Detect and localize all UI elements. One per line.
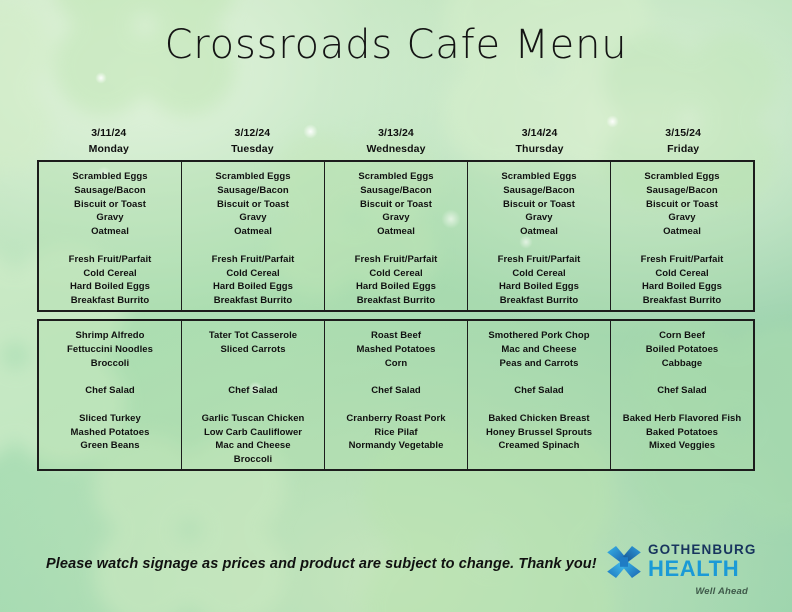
menu-item: Oatmeal bbox=[182, 225, 324, 239]
breakfast-column-monday: Scrambled Eggs Sausage/Bacon Biscuit or … bbox=[39, 162, 182, 310]
menu-item: Scrambled Eggs bbox=[182, 170, 324, 184]
menu-item: Hard Boiled Eggs bbox=[182, 280, 324, 294]
menu-item: Tater Tot Casserole bbox=[182, 329, 324, 343]
breakfast-column-thursday: Scrambled Eggs Sausage/Bacon Biscuit or … bbox=[468, 162, 611, 310]
menu-item: Gravy bbox=[182, 211, 324, 225]
day-header-wednesday: 3/13/24 Wednesday bbox=[324, 126, 468, 156]
menu-item: Sausage/Bacon bbox=[325, 184, 467, 198]
menu-item: Boiled Potatoes bbox=[611, 343, 753, 357]
menu-item: Hard Boiled Eggs bbox=[468, 280, 610, 294]
menu-item: Broccoli bbox=[182, 453, 324, 467]
menu-item: Breakfast Burrito bbox=[182, 294, 324, 308]
logo-line-gothenburg: GOTHENBURG bbox=[648, 542, 757, 557]
day-name: Tuesday bbox=[181, 142, 325, 156]
menu-item: Fresh Fruit/Parfait bbox=[468, 253, 610, 267]
menu-item: Hard Boiled Eggs bbox=[325, 280, 467, 294]
gothenburg-health-cross-icon bbox=[604, 542, 644, 582]
menu-item: Corn bbox=[325, 357, 467, 371]
menu-item: Breakfast Burrito bbox=[325, 294, 467, 308]
menu-item: Cabbage bbox=[611, 357, 753, 371]
menu-item: Corn Beef bbox=[611, 329, 753, 343]
menu-item: Mixed Veggies bbox=[611, 439, 753, 453]
day-date: 3/14/24 bbox=[468, 126, 612, 140]
menu-item: Biscuit or Toast bbox=[39, 198, 181, 212]
menu-item: Fresh Fruit/Parfait bbox=[182, 253, 324, 267]
day-date: 3/13/24 bbox=[324, 126, 468, 140]
day-header-thursday: 3/14/24 Thursday bbox=[468, 126, 612, 156]
breakfast-menu-table: Scrambled Eggs Sausage/Bacon Biscuit or … bbox=[37, 160, 755, 312]
page-title: Crossroads Cafe Menu bbox=[0, 22, 792, 68]
menu-item: Green Beans bbox=[39, 439, 181, 453]
menu-item: Fresh Fruit/Parfait bbox=[39, 253, 181, 267]
menu-item: Chef Salad bbox=[39, 384, 181, 398]
menu-item: Fresh Fruit/Parfait bbox=[325, 253, 467, 267]
day-date: 3/15/24 bbox=[611, 126, 755, 140]
day-name: Monday bbox=[37, 142, 181, 156]
menu-item: Chef Salad bbox=[182, 384, 324, 398]
menu-item: Biscuit or Toast bbox=[325, 198, 467, 212]
menu-item: Mashed Potatoes bbox=[325, 343, 467, 357]
menu-item: Broccoli bbox=[39, 357, 181, 371]
lunch-column-friday: Corn Beef Boiled Potatoes Cabbage Chef S… bbox=[611, 321, 753, 469]
day-name: Friday bbox=[611, 142, 755, 156]
lunch-menu-table: Shrimp Alfredo Fettuccini Noodles Brocco… bbox=[37, 319, 755, 471]
lunch-column-wednesday: Roast Beef Mashed Potatoes Corn Chef Sal… bbox=[325, 321, 468, 469]
day-header-tuesday: 3/12/24 Tuesday bbox=[181, 126, 325, 156]
menu-item: Sliced Turkey bbox=[39, 412, 181, 426]
day-header-row: 3/11/24 Monday 3/12/24 Tuesday 3/13/24 W… bbox=[37, 126, 755, 156]
disclaimer-text: Please watch signage as prices and produ… bbox=[46, 556, 597, 572]
menu-item: Baked Potatoes bbox=[611, 426, 753, 440]
menu-item: Normandy Vegetable bbox=[325, 439, 467, 453]
menu-item: Sliced Carrots bbox=[182, 343, 324, 357]
menu-item: Oatmeal bbox=[325, 225, 467, 239]
menu-item: Oatmeal bbox=[468, 225, 610, 239]
menu-item: Scrambled Eggs bbox=[468, 170, 610, 184]
menu-item: Mac and Cheese bbox=[182, 439, 324, 453]
menu-item: Breakfast Burrito bbox=[468, 294, 610, 308]
menu-item: Sausage/Bacon bbox=[468, 184, 610, 198]
day-header-friday: 3/15/24 Friday bbox=[611, 126, 755, 156]
logo-wordmark: GOTHENBURG HEALTH bbox=[648, 542, 757, 580]
menu-item: Biscuit or Toast bbox=[182, 198, 324, 212]
menu-item: Cold Cereal bbox=[611, 267, 753, 281]
gothenburg-health-logo: GOTHENBURG HEALTH Well Ahead bbox=[604, 538, 754, 600]
menu-item: Peas and Carrots bbox=[468, 357, 610, 371]
menu-item: Baked Chicken Breast bbox=[468, 412, 610, 426]
menu-item: Cold Cereal bbox=[325, 267, 467, 281]
day-date: 3/11/24 bbox=[37, 126, 181, 140]
menu-item: Biscuit or Toast bbox=[611, 198, 753, 212]
menu-item: Fresh Fruit/Parfait bbox=[611, 253, 753, 267]
menu-item: Sausage/Bacon bbox=[182, 184, 324, 198]
menu-item: Cranberry Roast Pork bbox=[325, 412, 467, 426]
menu-item: Chef Salad bbox=[611, 384, 753, 398]
menu-item: Smothered Pork Chop bbox=[468, 329, 610, 343]
menu-item: Honey Brussel Sprouts bbox=[468, 426, 610, 440]
menu-item: Roast Beef bbox=[325, 329, 467, 343]
menu-item: Hard Boiled Eggs bbox=[39, 280, 181, 294]
menu-item: Cold Cereal bbox=[468, 267, 610, 281]
menu-item: Gravy bbox=[468, 211, 610, 225]
menu-item: Rice Pilaf bbox=[325, 426, 467, 440]
menu-item: Cold Cereal bbox=[39, 267, 181, 281]
menu-item: Gravy bbox=[39, 211, 181, 225]
logo-line-health: HEALTH bbox=[648, 557, 757, 580]
menu-item: Breakfast Burrito bbox=[611, 294, 753, 308]
menu-item: Shrimp Alfredo bbox=[39, 329, 181, 343]
day-date: 3/12/24 bbox=[181, 126, 325, 140]
breakfast-column-wednesday: Scrambled Eggs Sausage/Bacon Biscuit or … bbox=[325, 162, 468, 310]
menu-item: Mac and Cheese bbox=[468, 343, 610, 357]
day-name: Wednesday bbox=[324, 142, 468, 156]
menu-item: Hard Boiled Eggs bbox=[611, 280, 753, 294]
menu-item: Garlic Tuscan Chicken bbox=[182, 412, 324, 426]
breakfast-column-friday: Scrambled Eggs Sausage/Bacon Biscuit or … bbox=[611, 162, 753, 310]
menu-item: Fettuccini Noodles bbox=[39, 343, 181, 357]
menu-item: Scrambled Eggs bbox=[39, 170, 181, 184]
menu-item: Sausage/Bacon bbox=[611, 184, 753, 198]
menu-item: Oatmeal bbox=[611, 225, 753, 239]
menu-item: Scrambled Eggs bbox=[325, 170, 467, 184]
day-header-monday: 3/11/24 Monday bbox=[37, 126, 181, 156]
lunch-column-tuesday: Tater Tot Casserole Sliced Carrots Chef … bbox=[182, 321, 325, 469]
menu-page: Crossroads Cafe Menu 3/11/24 Monday 3/12… bbox=[0, 0, 792, 612]
menu-item: Sausage/Bacon bbox=[39, 184, 181, 198]
menu-item: Gravy bbox=[325, 211, 467, 225]
sparkle-icon bbox=[95, 72, 107, 84]
menu-item: Cold Cereal bbox=[182, 267, 324, 281]
menu-item: Scrambled Eggs bbox=[611, 170, 753, 184]
menu-item: Low Carb Cauliflower bbox=[182, 426, 324, 440]
menu-item: Creamed Spinach bbox=[468, 439, 610, 453]
menu-item: Biscuit or Toast bbox=[468, 198, 610, 212]
breakfast-column-tuesday: Scrambled Eggs Sausage/Bacon Biscuit or … bbox=[182, 162, 325, 310]
menu-item: Breakfast Burrito bbox=[39, 294, 181, 308]
logo-tagline: Well Ahead bbox=[695, 586, 748, 597]
menu-item: Mashed Potatoes bbox=[39, 426, 181, 440]
menu-item: Oatmeal bbox=[39, 225, 181, 239]
menu-item: Baked Herb Flavored Fish bbox=[611, 412, 753, 426]
lunch-column-thursday: Smothered Pork Chop Mac and Cheese Peas … bbox=[468, 321, 611, 469]
day-name: Thursday bbox=[468, 142, 612, 156]
menu-item: Gravy bbox=[611, 211, 753, 225]
menu-item: Chef Salad bbox=[468, 384, 610, 398]
menu-item: Chef Salad bbox=[325, 384, 467, 398]
lunch-column-monday: Shrimp Alfredo Fettuccini Noodles Brocco… bbox=[39, 321, 182, 469]
